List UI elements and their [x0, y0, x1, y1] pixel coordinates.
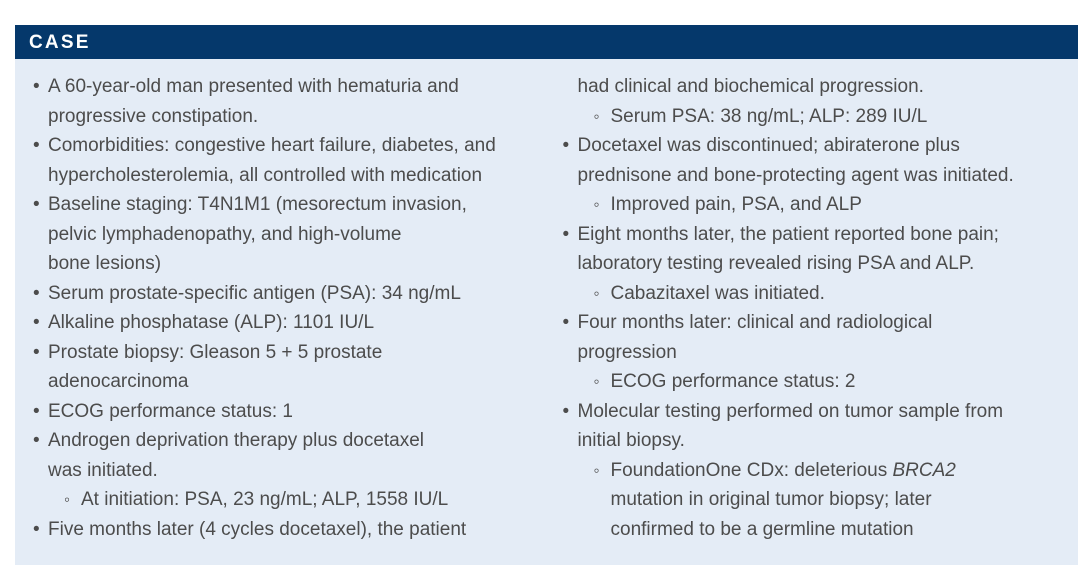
case-left-line-text: was initiated.: [48, 460, 158, 481]
case-right-line: Docetaxel was discontinued; abiraterone …: [561, 131, 1063, 161]
case-left-line: pelvic lymphadenopathy, and high-volume: [31, 220, 529, 250]
case-right-line-text: Cabazitaxel was initiated.: [611, 283, 825, 304]
case-right-line: Serum PSA: 38 ng/mL; ALP: 289 IU/L: [561, 102, 1063, 132]
case-right-line-text: Four months later: clinical and radiolog…: [578, 312, 933, 333]
case-right-line: prednisone and bone-protecting agent was…: [561, 161, 1063, 191]
case-right-line-text: mutation in original tumor biopsy; later: [611, 489, 932, 510]
case-left-line: was initiated.: [31, 456, 529, 486]
case-left-line: A 60-year-old man presented with hematur…: [31, 72, 529, 102]
case-right-line-text: confirmed to be a germline mutation: [611, 519, 914, 540]
case-right-line-text: Molecular testing performed on tumor sam…: [578, 401, 1004, 422]
case-left-line: progressive constipation.: [31, 102, 529, 132]
case-left-line-text: bone lesions): [48, 253, 161, 274]
case-right-line: FoundationOne CDx: deleterious BRCA2: [561, 456, 1063, 486]
case-left-line: Androgen deprivation therapy plus doceta…: [31, 426, 529, 456]
case-right-line: progression: [561, 338, 1063, 368]
case-left-line-text: Alkaline phosphatase (ALP): 1101 IU/L: [48, 312, 374, 333]
case-right-line: Improved pain, PSA, and ALP: [561, 190, 1063, 220]
case-left-list: A 60-year-old man presented with hematur…: [31, 72, 529, 544]
case-right-line: Four months later: clinical and radiolog…: [561, 308, 1063, 338]
case-left-line: At initiation: PSA, 23 ng/mL; ALP, 1558 …: [31, 485, 529, 515]
case-body: A 60-year-old man presented with hematur…: [15, 59, 1078, 565]
case-right-line: initial biopsy.: [561, 426, 1063, 456]
case-left-line-text: adenocarcinoma: [48, 371, 188, 392]
case-right-line-text: progression: [578, 342, 677, 363]
case-right-line-text: Improved pain, PSA, and ALP: [611, 194, 862, 215]
case-left-line: Baseline staging: T4N1M1 (mesorectum inv…: [31, 190, 529, 220]
case-right-line: Eight months later, the patient reported…: [561, 220, 1063, 250]
case-left-line: Comorbidities: congestive heart failure,…: [31, 131, 529, 161]
case-left-line: Prostate biopsy: Gleason 5 + 5 prostate: [31, 338, 529, 368]
case-left-line-text: Androgen deprivation therapy plus doceta…: [48, 430, 424, 451]
case-right-list: had clinical and biochemical progression…: [561, 72, 1063, 544]
case-right-line: had clinical and biochemical progression…: [561, 72, 1063, 102]
case-title: CASE: [29, 33, 91, 52]
case-left-line: hypercholesterolemia, all controlled wit…: [31, 161, 529, 191]
case-left-line-text: pelvic lymphadenopathy, and high-volume: [48, 224, 401, 245]
case-right-line-text: ECOG performance status: 2: [611, 371, 856, 392]
case-right-line-text: Docetaxel was discontinued; abiraterone …: [578, 135, 960, 156]
case-right-line-text: had clinical and biochemical progression…: [578, 76, 924, 97]
case-left-line-text: At initiation: PSA, 23 ng/mL; ALP, 1558 …: [81, 489, 448, 510]
case-left-line: Five months later (4 cycles docetaxel), …: [31, 515, 529, 545]
case-left-line: Alkaline phosphatase (ALP): 1101 IU/L: [31, 308, 529, 338]
case-right-line: laboratory testing revealed rising PSA a…: [561, 249, 1063, 279]
case-left-line: Serum prostate-specific antigen (PSA): 3…: [31, 279, 529, 309]
case-left-line-text: hypercholesterolemia, all controlled wit…: [48, 165, 482, 186]
case-right-line: Cabazitaxel was initiated.: [561, 279, 1063, 309]
case-right-line: confirmed to be a germline mutation: [561, 515, 1063, 545]
case-right-line-text: initial biopsy.: [578, 430, 685, 451]
gene-name: BRCA2: [893, 460, 956, 481]
case-left-line: adenocarcinoma: [31, 367, 529, 397]
case-right-line: ECOG performance status: 2: [561, 367, 1063, 397]
case-right-line-text: Eight months later, the patient reported…: [578, 224, 999, 245]
case-left-line-text: Comorbidities: congestive heart failure,…: [48, 135, 496, 156]
case-left-line: bone lesions): [31, 249, 529, 279]
case-right-line-text: prednisone and bone-protecting agent was…: [578, 165, 1014, 186]
case-right-line-text: laboratory testing revealed rising PSA a…: [578, 253, 975, 274]
case-right-line: mutation in original tumor biopsy; later: [561, 485, 1063, 515]
case-left-line: ECOG performance status: 1: [31, 397, 529, 427]
case-right-line-text: Serum PSA: 38 ng/mL; ALP: 289 IU/L: [611, 106, 928, 127]
case-header-bar: CASE: [15, 25, 1078, 59]
case-right-line-text: FoundationOne CDx: deleterious: [611, 460, 893, 481]
case-right-line: Molecular testing performed on tumor sam…: [561, 397, 1063, 427]
case-card: CASE A 60-year-old man presented with he…: [15, 25, 1078, 565]
case-left-line-text: Baseline staging: T4N1M1 (mesorectum inv…: [48, 194, 467, 215]
case-left-column: A 60-year-old man presented with hematur…: [31, 72, 547, 555]
case-left-line-text: progressive constipation.: [48, 106, 258, 127]
case-left-line-text: ECOG performance status: 1: [48, 401, 293, 422]
case-left-line-text: A 60-year-old man presented with hematur…: [48, 76, 459, 97]
case-left-line-text: Serum prostate-specific antigen (PSA): 3…: [48, 283, 461, 304]
case-left-line-text: Five months later (4 cycles docetaxel), …: [48, 519, 466, 540]
case-left-line-text: Prostate biopsy: Gleason 5 + 5 prostate: [48, 342, 382, 363]
case-right-column: had clinical and biochemical progression…: [547, 72, 1063, 555]
